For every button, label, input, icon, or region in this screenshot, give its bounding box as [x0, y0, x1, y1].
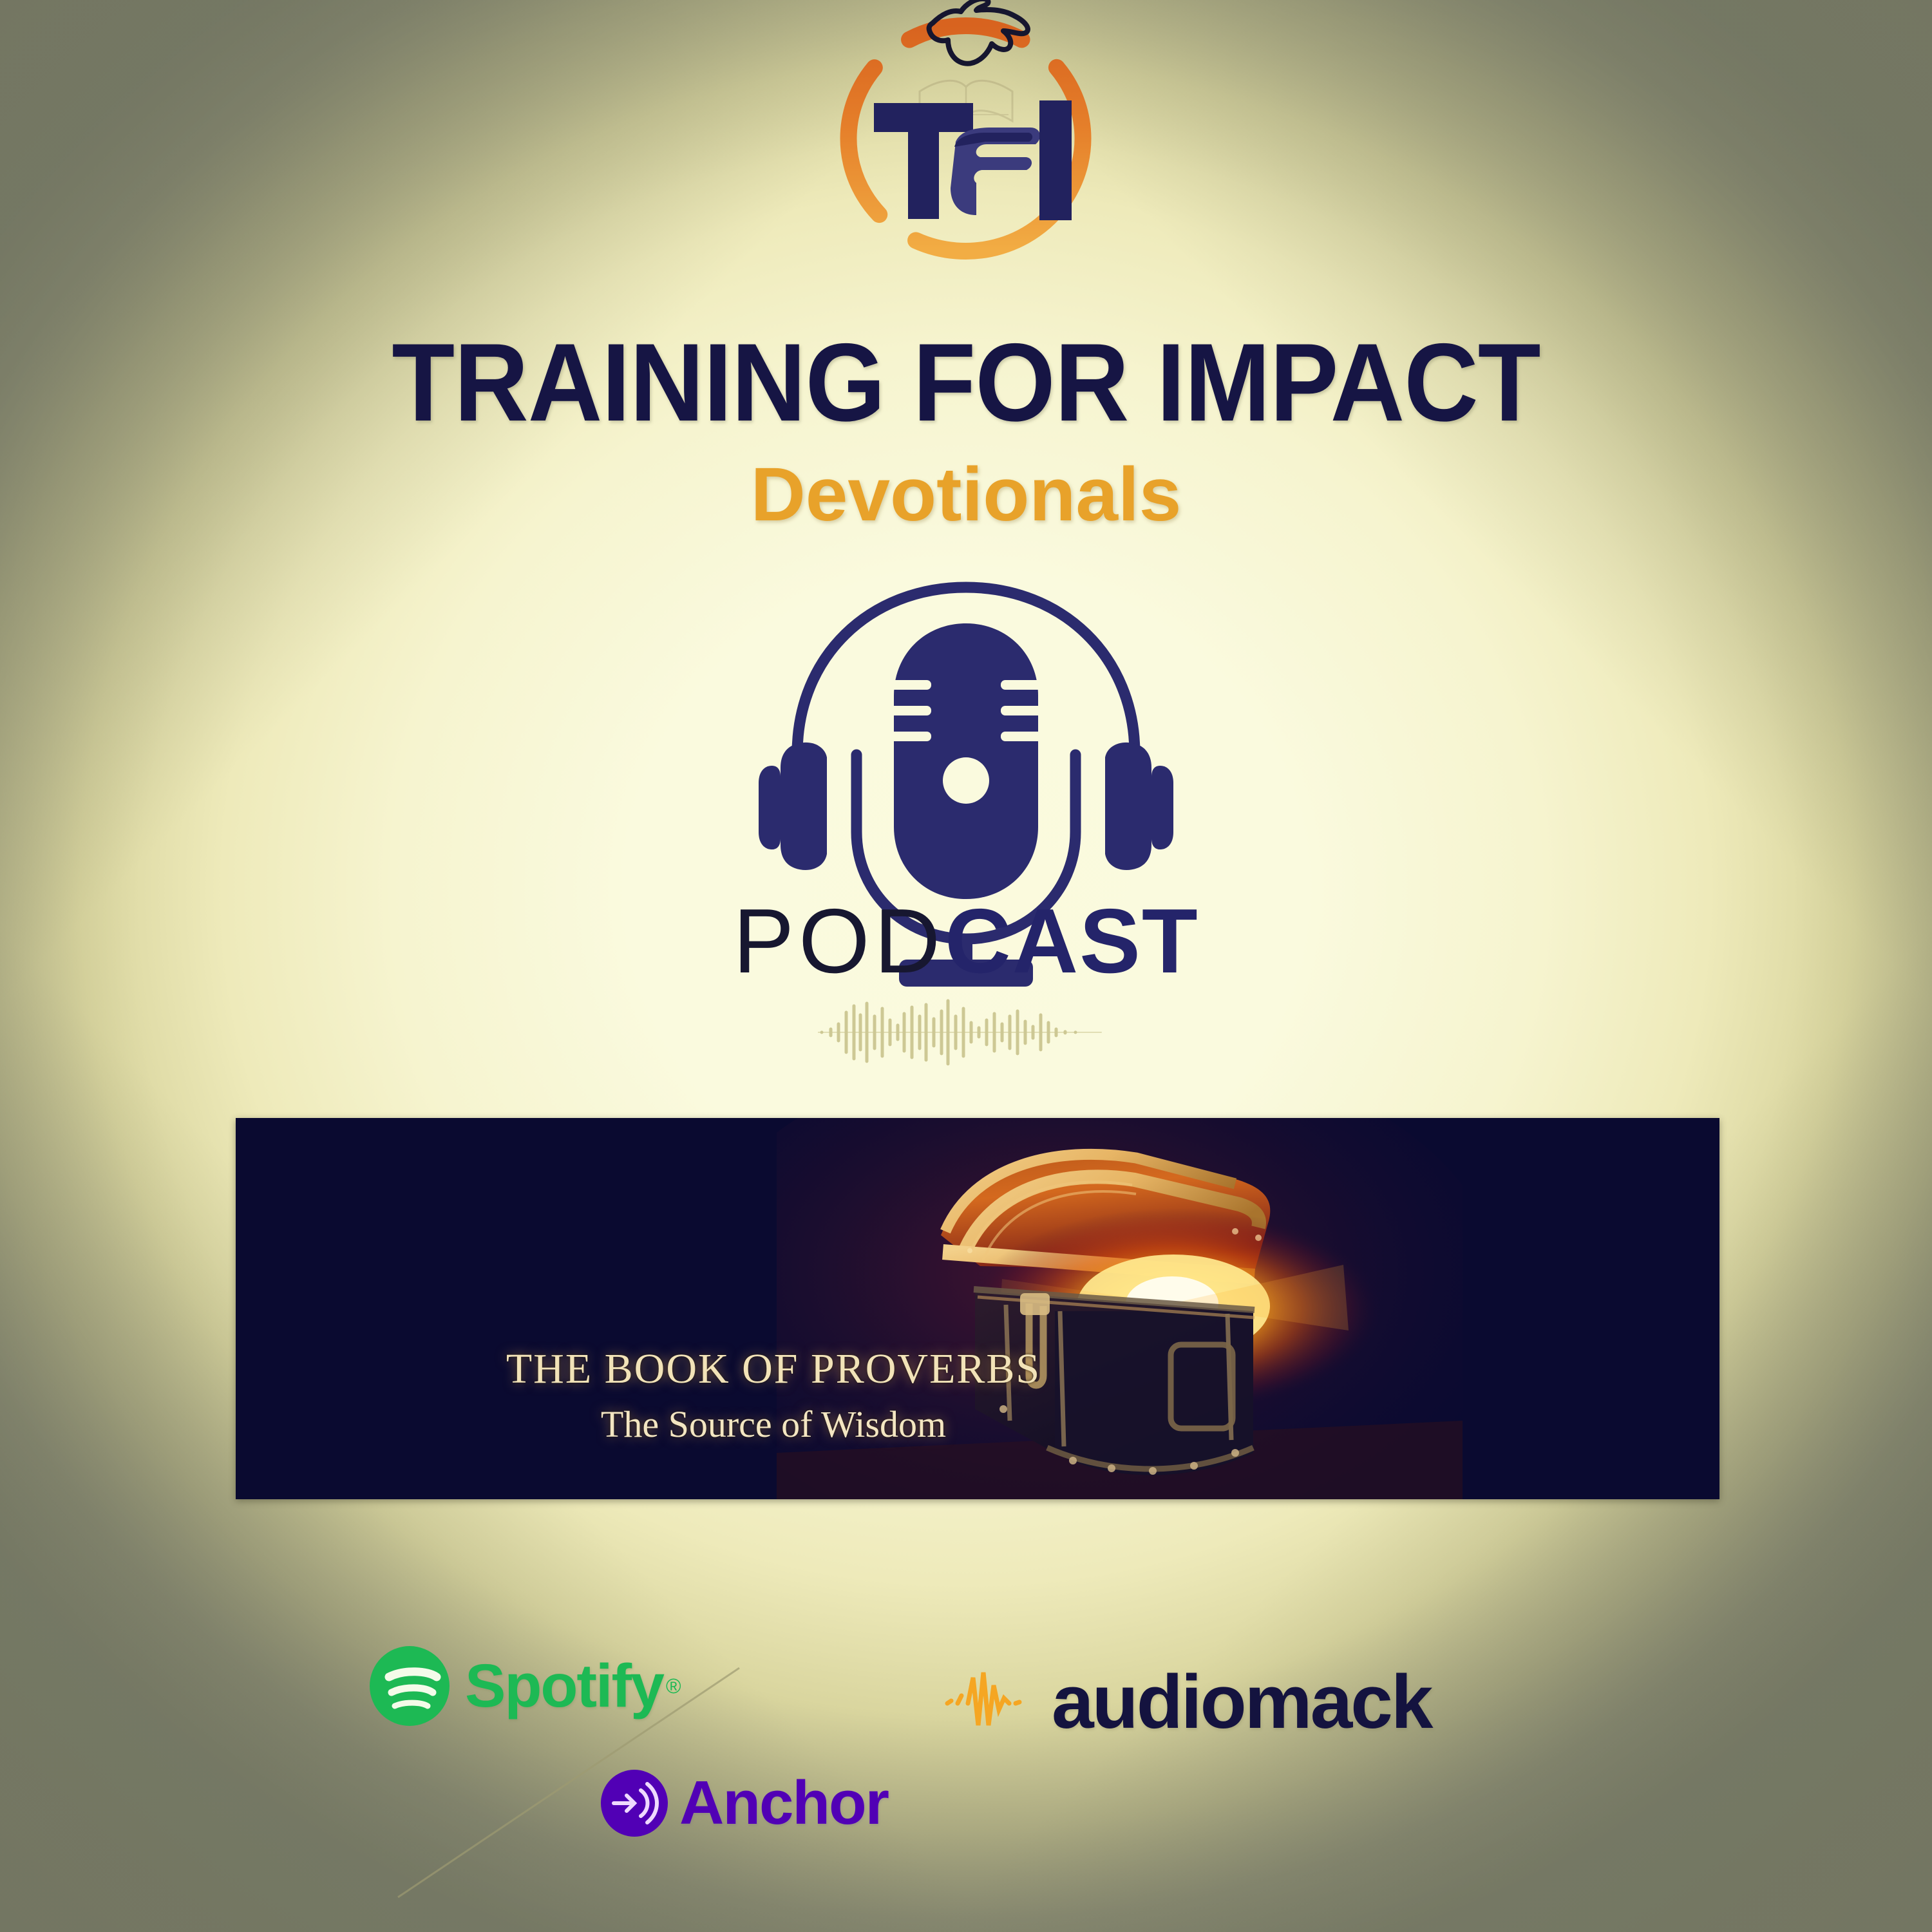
audiomack-label: audiomack: [1052, 1658, 1431, 1746]
logo-monogram: [874, 100, 1072, 220]
episode-artwork: [777, 1118, 1463, 1499]
spotify-icon[interactable]: [365, 1641, 455, 1731]
brand-logo: [0, 0, 1932, 265]
episode-banner[interactable]: THE BOOK OF PROVERBS The Source of Wisdo…: [236, 1118, 1719, 1499]
podcast-word-light: POD: [733, 890, 945, 992]
spotify-label: Spotify: [465, 1651, 663, 1721]
page-subtitle: Devotionals: [0, 451, 1932, 538]
anchor-label: Anchor: [679, 1768, 888, 1839]
anchor-icon[interactable]: [596, 1765, 673, 1842]
podcast-word-bold: CAST: [945, 890, 1199, 992]
audiomack-waveform-icon[interactable]: [943, 1663, 1034, 1741]
platform-link-anchor[interactable]: Anchor: [596, 1765, 888, 1842]
podcast-cover-art: TRAINING FOR IMPACT Devotionals: [0, 0, 1932, 1932]
page-title: TRAINING FOR IMPACT: [68, 319, 1864, 446]
platform-link-audiomack[interactable]: audiomack: [943, 1658, 1431, 1746]
podcast-wordmark: PODCAST: [0, 889, 1932, 994]
spotify-trademark: ®: [666, 1674, 681, 1698]
treasure-chest-illustration: [777, 1118, 1463, 1499]
logo-svg: [760, 0, 1172, 265]
audio-waveform-decoration: [818, 997, 1114, 1068]
platform-link-spotify[interactable]: Spotify ®: [365, 1641, 681, 1731]
